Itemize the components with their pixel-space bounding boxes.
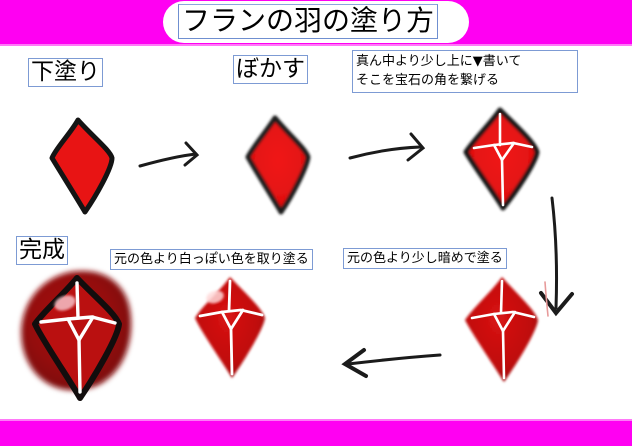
gem-facet-lines (474, 114, 532, 205)
tutorial-canvas: フランの羽の塗り方 (0, 0, 632, 446)
arrow-step1-to-step2 (140, 143, 197, 166)
note-lighter-color: 元の色より白っぽい色を取り塗る (110, 249, 313, 270)
bottom-banner (0, 421, 632, 446)
arrow-step4-to-step5 (345, 350, 440, 376)
label-complete: 完成 (16, 236, 68, 265)
label-complete-text: 完成 (19, 237, 65, 264)
gem-facet-lines (41, 283, 115, 392)
gem-base-coat (52, 120, 112, 212)
note-facet-instruction: 真ん中より少し上に▼書いて そこを宝石の角を繋げる (352, 50, 578, 93)
gem-blurred (248, 118, 308, 212)
gem-finished (21, 271, 131, 398)
page-title: フランの羽の塗り方 (182, 5, 434, 37)
top-banner-highlight (0, 44, 632, 46)
note-darker-color: 元の色より少し暗めで塗る (343, 248, 507, 269)
label-base-coat-text: 下塗り (31, 59, 100, 86)
arrow-step2-to-step3 (350, 134, 423, 160)
gem-darkened (465, 277, 538, 382)
gem-facets (466, 110, 537, 208)
arrow-step3-to-step4 (541, 198, 572, 316)
gem-facet-lines (472, 281, 534, 378)
title-textbox: フランの羽の塗り方 (178, 4, 438, 39)
note-facet-line2: そこを宝石の角を繋げる (356, 71, 574, 90)
note-darker-color-text: 元の色より少し暗めで塗る (347, 249, 503, 268)
note-facet-line1: 真ん中より少し上に▼書いて (356, 52, 574, 71)
label-blur-text: ぼかす (236, 56, 305, 83)
label-base-coat: 下塗り (28, 58, 103, 87)
gem-highlight (195, 277, 265, 378)
gem-highlight-spot (52, 293, 77, 314)
note-lighter-color-text: 元の色より白っぽい色を取り塗る (114, 250, 309, 269)
gem-highlight-spot (205, 289, 226, 306)
label-blur: ぼかす (233, 55, 308, 84)
gem-facet-lines (200, 281, 262, 374)
